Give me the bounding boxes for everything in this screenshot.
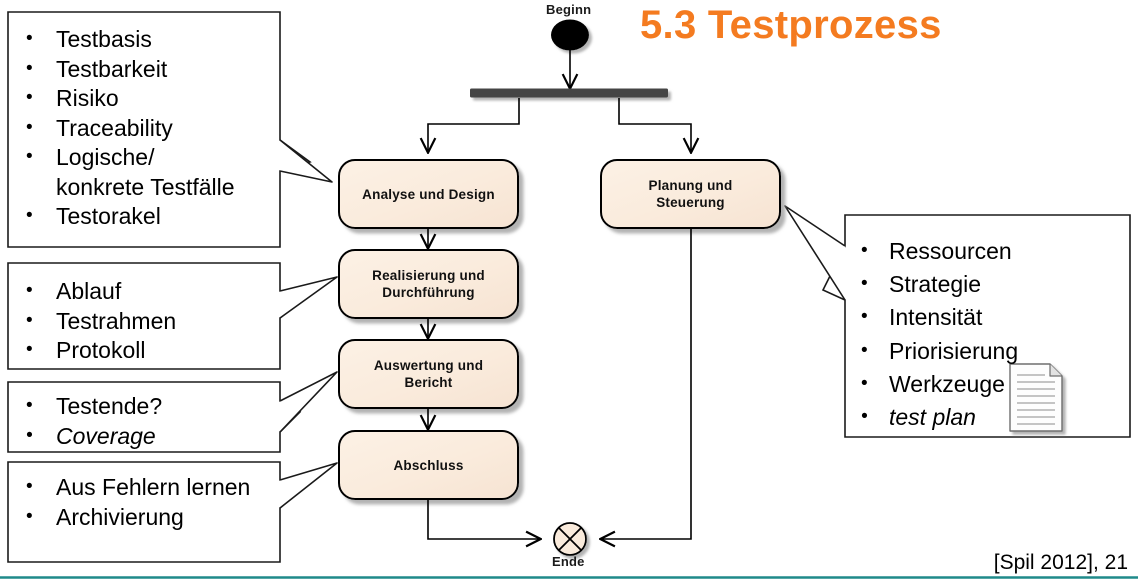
list-item: Ressourcen	[845, 235, 1130, 268]
list-item: Protokoll	[8, 336, 280, 366]
list-item: Werkzeuge	[845, 368, 1130, 401]
list-item: Aus Fehlern lernen	[8, 473, 280, 503]
activity-node-realisierung[interactable]	[339, 250, 518, 318]
list-item: Ablauf	[8, 277, 280, 307]
callout-analyse: TestbasisTestbarkeitRisikoTraceabilityLo…	[8, 12, 280, 247]
activity-node-auswertung[interactable]	[339, 340, 518, 408]
edge-abschluss-to-end	[428, 499, 540, 539]
edge-fork-to-analyse	[428, 98, 519, 152]
callout-list: Aus Fehlern lernenArchivierung	[8, 473, 280, 532]
callout-list: RessourcenStrategieIntensitätPriorisieru…	[845, 235, 1130, 434]
list-item: Intensität	[845, 301, 1130, 334]
start-node-label: Beginn	[546, 2, 591, 17]
slide-canvas: 5.3 Testprozess Beginn Ende Analyse und …	[0, 0, 1138, 586]
list-item: Priorisierung	[845, 335, 1130, 368]
edge-planung-to-end	[601, 228, 691, 539]
list-item: Testorakel	[8, 202, 280, 232]
activity-node-planung[interactable]	[601, 160, 780, 228]
page-title: 5.3 Testprozess	[640, 3, 942, 48]
callout-list: AblaufTestrahmenProtokoll	[8, 277, 280, 366]
list-item: konkrete Testfälle	[8, 173, 280, 203]
list-item: Archivierung	[8, 503, 280, 533]
callout-list: TestbasisTestbarkeitRisikoTraceabilityLo…	[8, 25, 280, 232]
callout-planung: RessourcenStrategieIntensitätPriorisieru…	[845, 215, 1130, 437]
activity-node-abschluss[interactable]	[339, 431, 518, 499]
callout-realisierung: AblaufTestrahmenProtokoll	[8, 263, 280, 369]
footer-reference: [Spil 2012], 21	[994, 551, 1128, 575]
end-node-label: Ende	[552, 554, 585, 569]
callout-list: Testende?Coverage	[8, 392, 280, 451]
end-node	[554, 523, 586, 555]
fork-bar	[470, 89, 668, 98]
callout-auswertung: Testende?Coverage	[8, 382, 280, 452]
list-item: Logische/	[8, 143, 280, 173]
edge-fork-to-planung	[619, 98, 691, 152]
list-item: Testbasis	[8, 25, 280, 55]
list-item: Testende?	[8, 392, 280, 422]
list-item: Testrahmen	[8, 307, 280, 337]
list-item: Strategie	[845, 268, 1130, 301]
start-node	[551, 20, 589, 51]
list-item: Traceability	[8, 114, 280, 144]
list-item: Coverage	[8, 422, 280, 452]
callout-abschluss: Aus Fehlern lernenArchivierung	[8, 462, 280, 562]
activity-node-analyse[interactable]	[339, 160, 518, 228]
list-item: test plan	[845, 401, 1130, 434]
list-item: Risiko	[8, 84, 280, 114]
list-item: Testbarkeit	[8, 55, 280, 85]
